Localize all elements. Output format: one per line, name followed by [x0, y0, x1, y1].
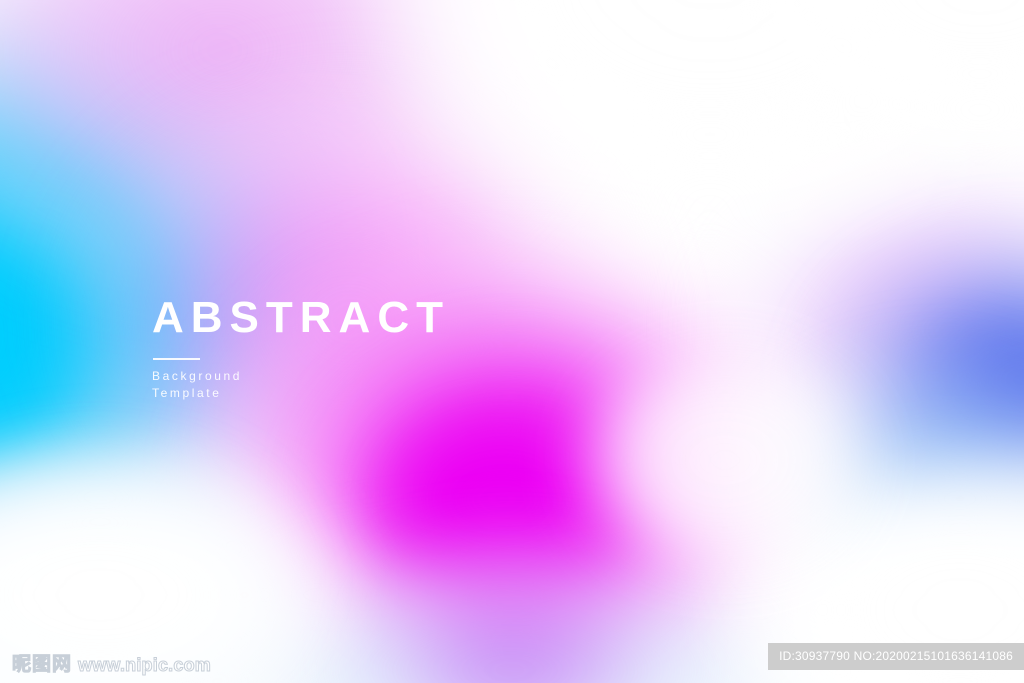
site-name-cjk: 昵图网: [12, 655, 72, 674]
site-watermark-logo: 昵图网 www.nipic.com: [12, 655, 211, 674]
abstract-gradient-poster: ABSTRACT Background Template 昵图网 www.nip…: [0, 0, 1024, 683]
magenta-tail-blob: [350, 520, 680, 683]
white-void-left: [0, 430, 370, 683]
cyan-gradient-blob: [0, 0, 390, 580]
white-void-top-right: [700, 0, 1024, 180]
subtitle-line-2: Template: [152, 385, 450, 402]
white-void-center-right: [560, 330, 890, 590]
white-void-top: [330, 0, 1024, 260]
ice-blue-left-blob: [0, 430, 310, 683]
magenta-hotspot-blob: [372, 404, 632, 594]
subtitle-line-1: Background: [152, 368, 450, 385]
magenta-wide-blob: [175, 215, 865, 683]
sky-blue-wave-blob: [735, 330, 1024, 630]
page-title: ABSTRACT: [152, 296, 450, 340]
title-divider: [153, 358, 200, 360]
royal-blue-wave-blob: [800, 215, 1024, 545]
site-url-text: www.nipic.com: [78, 656, 211, 674]
lilac-gradient-blob: [0, 0, 600, 330]
headline-block: ABSTRACT Background Template: [152, 296, 450, 403]
violet-right-blob: [690, 140, 1024, 520]
image-id-badge: ID:30937790 NO:20200215101636141086: [768, 643, 1024, 670]
